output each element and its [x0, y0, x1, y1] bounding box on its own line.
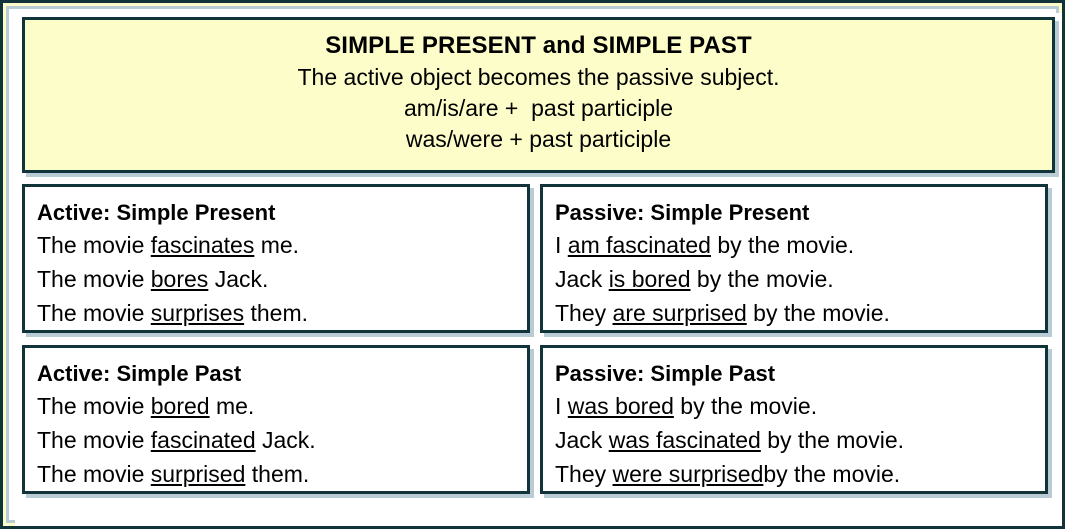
example-box-title: Passive: Simple Past	[555, 358, 1045, 389]
example-box-title: Active: Simple Past	[37, 358, 527, 389]
example-sentence: The movie fascinates me.	[37, 228, 527, 262]
example-grid: Active: Simple Present The movie fascina…	[22, 184, 1055, 494]
verb-phrase: fascinated	[151, 427, 256, 453]
example-sentence: They are surprised by the movie.	[555, 296, 1045, 330]
example-box-passive-simple-present: Passive: Simple Present I am fascinated …	[540, 184, 1048, 333]
example-sentence: I was bored by the movie.	[555, 389, 1045, 423]
example-box-title: Passive: Simple Present	[555, 197, 1045, 228]
rule-line-2: am/is/are + past participle	[25, 93, 1052, 124]
example-sentence: The movie surprises them.	[37, 296, 527, 330]
verb-phrase: was fascinated	[609, 427, 761, 453]
example-sentence: The movie fascinated Jack.	[37, 423, 527, 457]
example-sentence: Jack was fascinated by the movie.	[555, 423, 1045, 457]
example-sentence: The movie surprised them.	[37, 457, 527, 491]
example-sentence: The movie bores Jack.	[37, 262, 527, 296]
verb-phrase: surprised	[151, 461, 246, 487]
example-sentence: They were surprisedby the movie.	[555, 457, 1045, 491]
rule-line-1: The active object becomes the passive su…	[25, 62, 1052, 93]
grammar-reference-sheet: SIMPLE PRESENT and SIMPLE PAST The activ…	[15, 13, 1062, 526]
example-sentence: I am fascinated by the movie.	[555, 228, 1045, 262]
verb-phrase: were surprised	[613, 461, 764, 487]
example-row-past: Active: Simple Past The movie bored me. …	[22, 345, 1055, 494]
example-box-passive-simple-past: Passive: Simple Past I was bored by the …	[540, 345, 1048, 494]
example-box-active-simple-past: Active: Simple Past The movie bored me. …	[22, 345, 530, 494]
verb-phrase: are surprised	[613, 300, 747, 326]
verb-phrase: surprises	[151, 300, 244, 326]
example-sentence: The movie bored me.	[37, 389, 527, 423]
verb-phrase: am fascinated	[568, 232, 711, 258]
verb-phrase: bored	[151, 393, 210, 419]
example-box-active-simple-present: Active: Simple Present The movie fascina…	[22, 184, 530, 333]
page-frame: SIMPLE PRESENT and SIMPLE PAST The activ…	[0, 0, 1065, 529]
verb-phrase: was bored	[568, 393, 674, 419]
sheet-title: SIMPLE PRESENT and SIMPLE PAST	[25, 29, 1052, 62]
verb-phrase: fascinates	[151, 232, 255, 258]
rule-line-3: was/were + past participle	[25, 124, 1052, 155]
verb-phrase: bores	[151, 266, 209, 292]
verb-phrase: is bored	[609, 266, 691, 292]
example-box-title: Active: Simple Present	[37, 197, 527, 228]
rule-summary-box: SIMPLE PRESENT and SIMPLE PAST The activ…	[22, 17, 1055, 173]
example-sentence: Jack is bored by the movie.	[555, 262, 1045, 296]
example-row-present: Active: Simple Present The movie fascina…	[22, 184, 1055, 333]
page-inner-frame: SIMPLE PRESENT and SIMPLE PAST The activ…	[6, 6, 1059, 523]
